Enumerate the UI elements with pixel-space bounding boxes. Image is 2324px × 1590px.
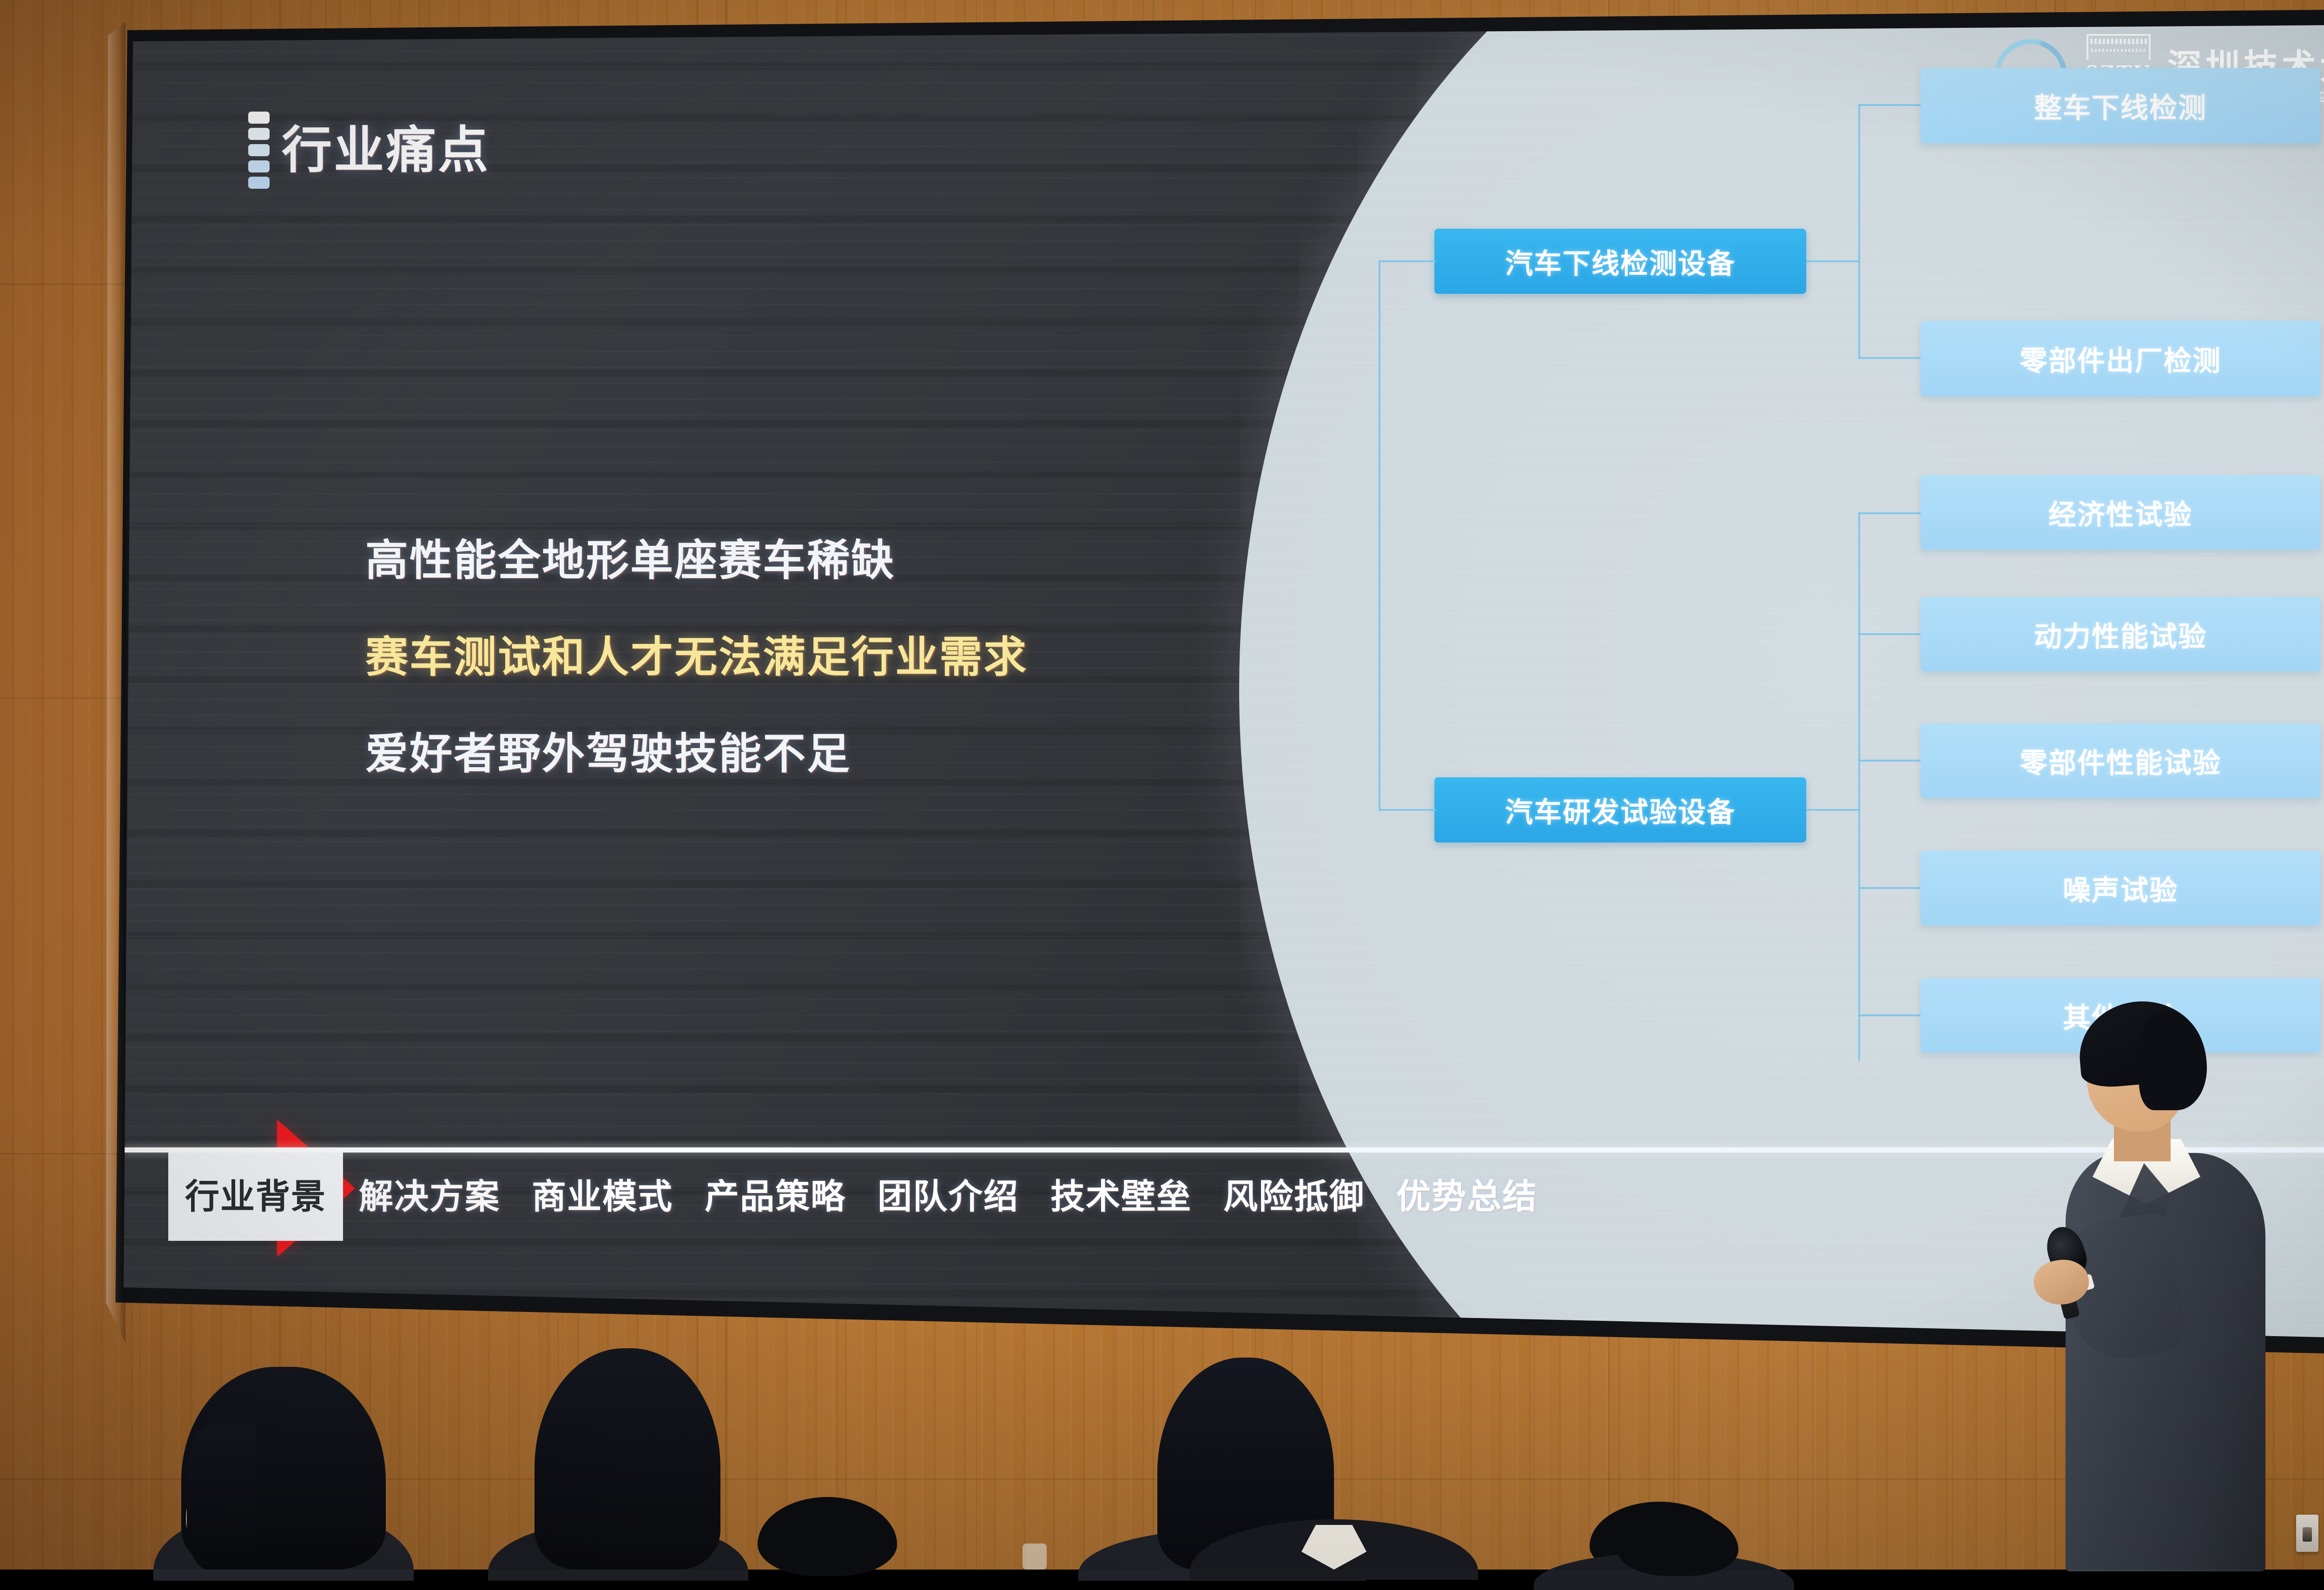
- chart-edge: [1379, 809, 1436, 811]
- chart-child-node[interactable]: 零部件性能试验: [1921, 723, 2320, 798]
- bullet-item: 爱好者野外驾驶技能不足: [365, 733, 1504, 775]
- presenter-hair-back: [2139, 1012, 2207, 1110]
- chart-branch-bus: [1858, 104, 1860, 359]
- chart-child-node[interactable]: 动力性能试验: [1921, 597, 2320, 671]
- chart-edge: [1858, 633, 1921, 635]
- chart-child-node[interactable]: 零部件出厂检测: [1921, 321, 2320, 396]
- nav-item[interactable]: 商业模式: [516, 1179, 689, 1214]
- chart-edge: [1806, 809, 1860, 811]
- chart-edge: [1858, 512, 1921, 514]
- chart-edge: [1858, 887, 1921, 889]
- nav-item[interactable]: 风险抵御: [1208, 1179, 1380, 1214]
- audience-hair: [187, 1423, 257, 1570]
- chart-edge: [1806, 260, 1860, 262]
- nav-item[interactable]: 解决方案: [343, 1179, 516, 1214]
- chart-child-node[interactable]: 整车下线检测: [1921, 68, 2320, 143]
- nav-item[interactable]: 优势总结: [1380, 1179, 1553, 1214]
- bullet-list: 高性能全地形单座赛车稀缺 赛车测试和人才无法满足行业需求 爱好者野外驾驶技能不足: [365, 539, 1504, 829]
- slide-navigation: 行业背景 解决方案 商业模式 产品策略 团队介绍 技术壁垒 风险抵御 优势总结: [124, 1153, 2324, 1241]
- chart-child-node[interactable]: 经济性试验: [1921, 475, 2320, 550]
- stacked-bars-icon: [248, 112, 270, 189]
- chart-branch-bus: [1858, 512, 1860, 1061]
- nav-item[interactable]: 团队介绍: [862, 1179, 1035, 1214]
- presenter: [2023, 1000, 2320, 1571]
- bullet-item: 高性能全地形单座赛车稀缺: [365, 539, 1504, 582]
- nav-separator-line: [124, 1147, 2324, 1153]
- chart-trunk-edge: [1379, 260, 1380, 811]
- bezel-highlight-left: [106, 8, 125, 1371]
- chart-edge: [1858, 357, 1921, 359]
- chart-edge: [1858, 760, 1921, 762]
- chart-edge: [1379, 260, 1436, 262]
- chart-child-node[interactable]: 噪声试验: [1921, 851, 2320, 925]
- bullet-item-highlighted: 赛车测试和人才无法满足行业需求: [365, 636, 1504, 679]
- chart-edge: [1858, 104, 1921, 106]
- nav-item-active[interactable]: 行业背景: [168, 1153, 343, 1241]
- presentation-display: 行业痛点 SZ SZTU 深圳技术大学 Shenzhen Technology …: [106, 8, 2324, 1371]
- audience-head: [535, 1348, 720, 1570]
- slide-title-group: 行业痛点: [248, 112, 490, 189]
- chart-edge: [1858, 1014, 1921, 1016]
- water-bottle: [1023, 1544, 1047, 1570]
- nav-item[interactable]: 产品策略: [689, 1179, 862, 1214]
- slide-canvas: 行业痛点 SZ SZTU 深圳技术大学 Shenzhen Technology …: [124, 24, 2324, 1348]
- chart-parent-node[interactable]: 汽车下线检测设备: [1434, 229, 1806, 294]
- page-title: 行业痛点: [282, 125, 490, 175]
- chart-parent-node[interactable]: 汽车研发试验设备: [1434, 777, 1806, 842]
- nav-item[interactable]: 技术壁垒: [1035, 1179, 1208, 1214]
